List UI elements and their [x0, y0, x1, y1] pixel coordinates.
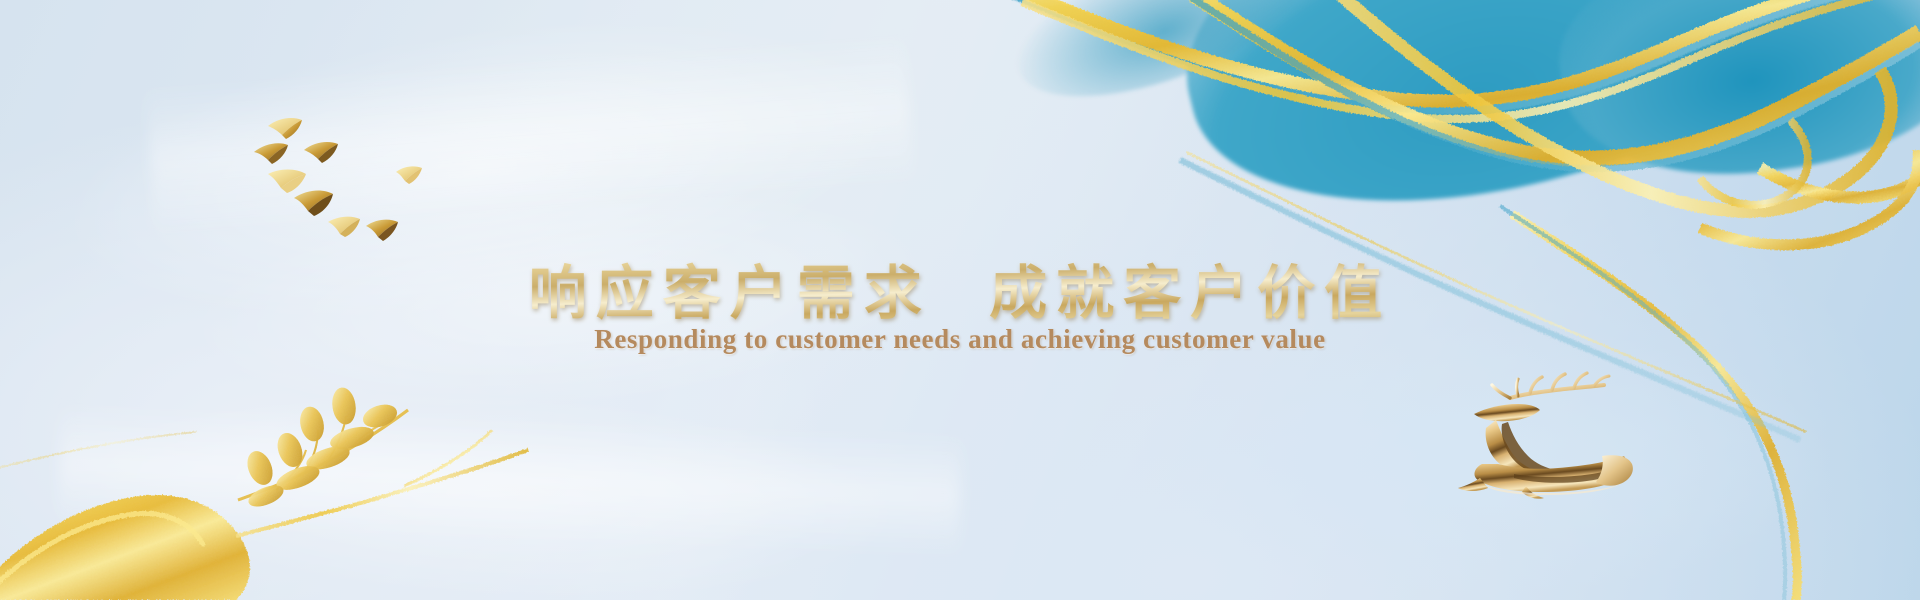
page-subtitle: Responding to customer needs and achievi…	[0, 324, 1920, 355]
agate-swirl-1	[0, 0, 1106, 481]
teal-pool-1	[1150, 0, 1909, 260]
golden-deer-sculpture	[1452, 368, 1642, 508]
bird-icon	[366, 220, 398, 241]
bird-icon	[294, 191, 333, 216]
bird-icon	[254, 143, 288, 164]
bird-icon	[396, 166, 422, 184]
golden-leaf-sprig	[232, 372, 442, 522]
agate-highlight-band-bottom	[58, 404, 962, 555]
hero-banner: 响应客户需求 成就客户价值 Responding to customer nee…	[0, 0, 1920, 600]
headline-block: 响应客户需求 成就客户价值	[0, 246, 1920, 330]
bird-icon	[328, 217, 360, 237]
page-title: 响应客户需求 成就客户价值	[529, 246, 1391, 330]
bird-icon	[268, 170, 306, 194]
teal-pool-3	[999, 0, 1322, 128]
bird-icon	[304, 142, 338, 163]
bird-icon	[268, 118, 302, 139]
flying-birds-flock	[248, 108, 438, 248]
teal-pool-2	[1546, 0, 1920, 198]
